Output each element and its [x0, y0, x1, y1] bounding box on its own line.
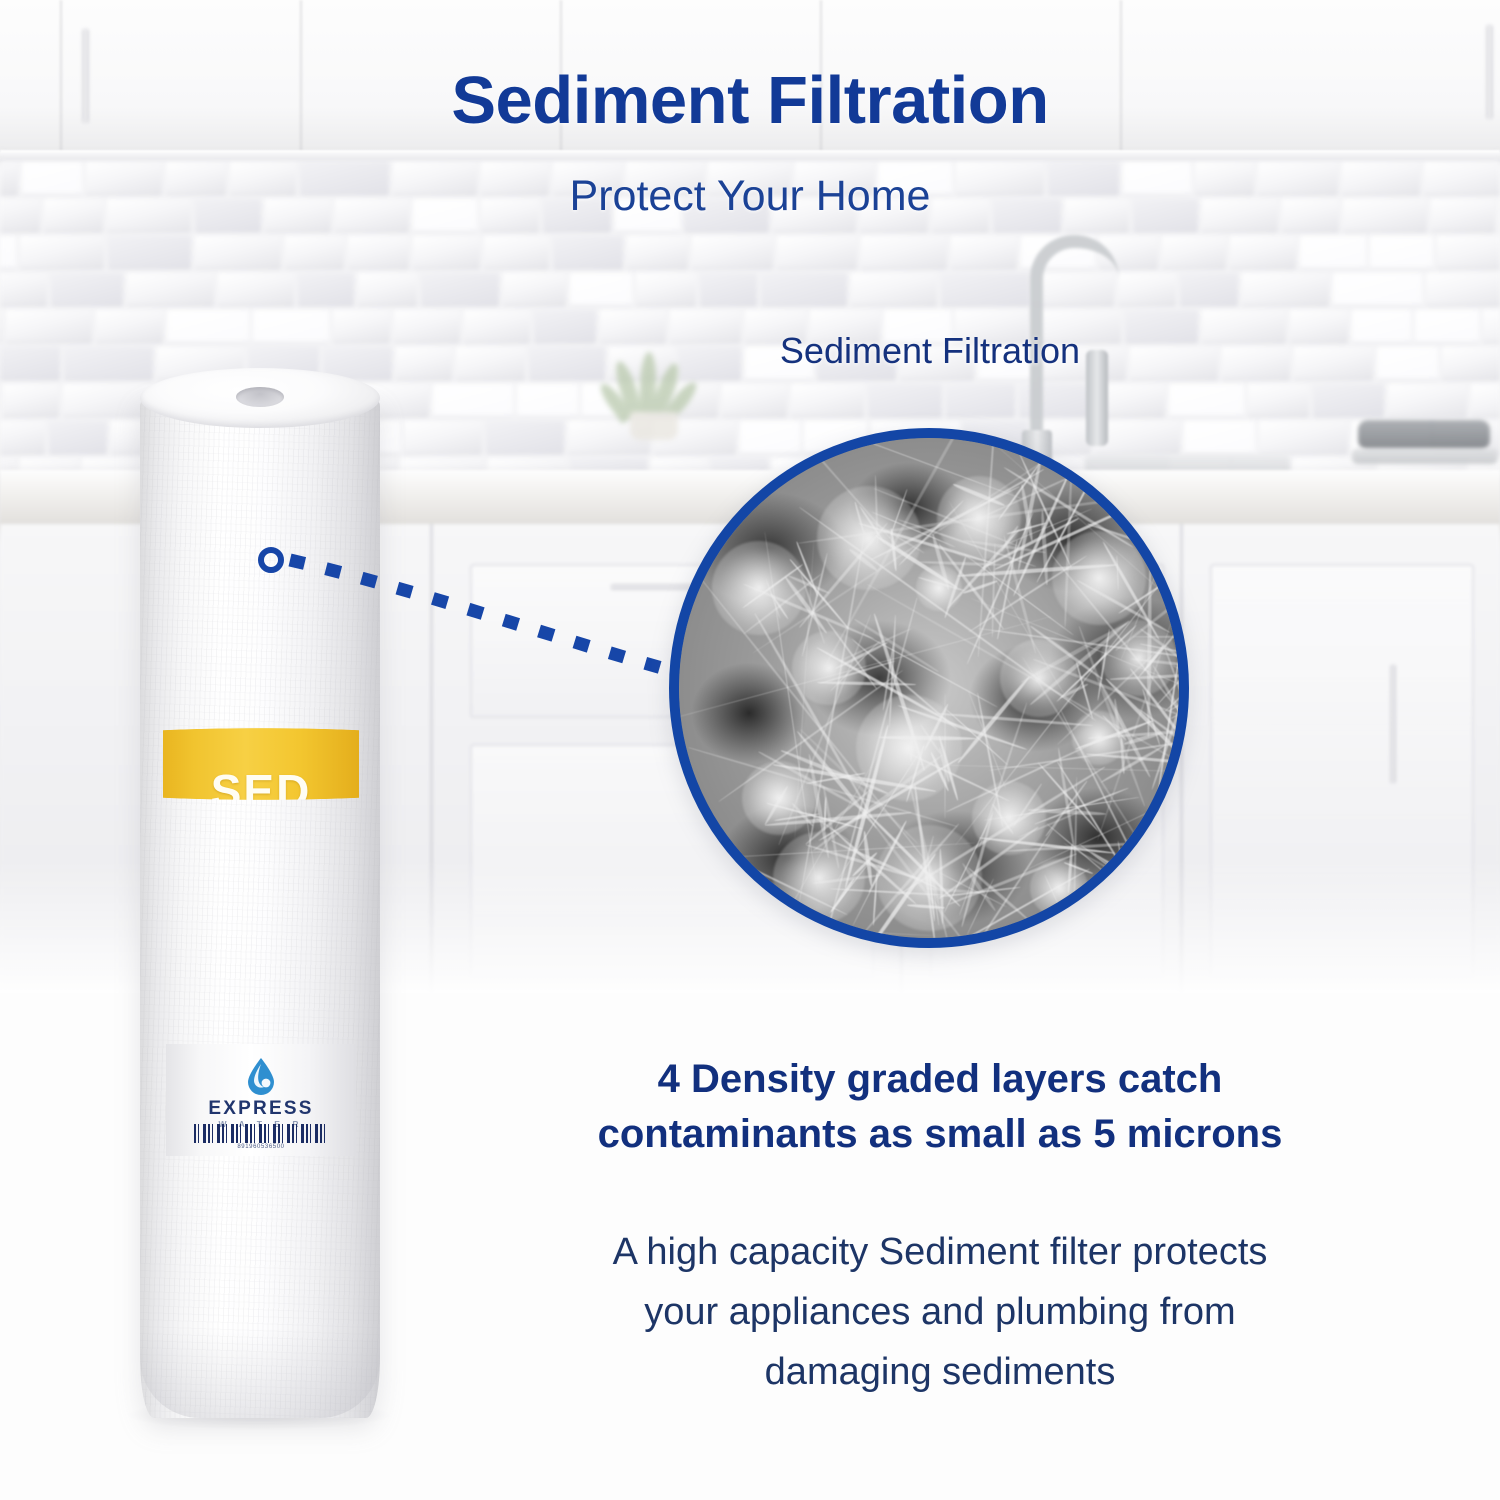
page-subtitle: Protect Your Home	[0, 172, 1500, 221]
label-removes-item: Rust	[163, 864, 359, 881]
magnified-fiber-structure	[669, 428, 1189, 948]
feature-description: A high capacity Sediment filter protects…	[420, 1222, 1460, 1402]
express-water-logo: EXPRESS W A T E R	[166, 1056, 356, 1129]
label-dimensions-heading: Dimensions	[163, 956, 359, 968]
fiber-mesh	[679, 438, 1179, 938]
brand-name: EXPRESS	[166, 1099, 356, 1118]
label-removes-item: Silt	[163, 897, 359, 914]
label-material: 100% POLYPROPYLENE	[163, 820, 359, 834]
product-label-yellow: SED 100% POLYPROPYLENE Removes Rust Dirt…	[163, 728, 359, 1043]
feature-description-line: damaging sediments	[420, 1342, 1460, 1402]
barcode-number: 891960536500	[166, 1144, 356, 1150]
stacked-dishes-icon	[1358, 420, 1490, 450]
label-removes-heading: Removes	[163, 846, 359, 860]
feature-headline: 4 Density graded layers catch contaminan…	[420, 1052, 1460, 1162]
page-title: Sediment Filtration	[0, 62, 1500, 139]
water-drop-icon	[244, 1056, 278, 1096]
label-removes-item: Sand	[163, 914, 359, 931]
label-removes-list: Rust Dirt Silt Sand And other Sediments	[163, 864, 359, 963]
feature-description-line: your appliances and plumbing from	[420, 1282, 1460, 1342]
label-fine-print-usage: Filter should be changed periodically, f…	[163, 1020, 359, 1029]
label-removes-item: And other	[163, 930, 359, 947]
label-removes-item: Dirt	[163, 881, 359, 898]
feature-headline-line: 4 Density graded layers catch	[420, 1052, 1460, 1107]
dish-tray	[1352, 448, 1498, 464]
callout-circle-marker	[258, 547, 284, 573]
barcode-icon	[194, 1124, 328, 1143]
label-dimensions-value: 20 X 4.5	[163, 972, 359, 986]
product-infographic: SED 100% POLYPROPYLENE Removes Rust Dirt…	[0, 0, 1500, 1500]
cartridge-center-hole	[236, 387, 284, 407]
callout-label: Sediment Filtration	[620, 330, 1240, 372]
label-product-code: SED	[163, 764, 359, 818]
product-label-brand: EXPRESS W A T E R 891960536500	[166, 1044, 356, 1156]
feature-description-line: A high capacity Sediment filter protects	[420, 1222, 1460, 1282]
feature-headline-line: contaminants as small as 5 microns	[420, 1107, 1460, 1162]
cartridge-bottom-shading	[140, 1328, 380, 1418]
